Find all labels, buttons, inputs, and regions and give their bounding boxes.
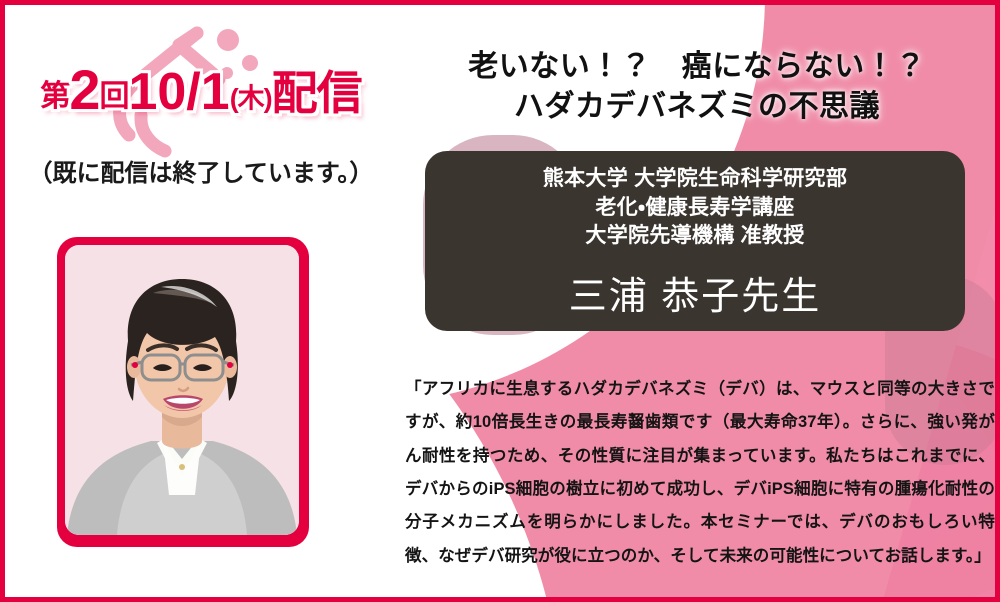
speaker-affiliation: 熊本大学 大学院生命科学研究部 老化・健康長寿学講座 大学院先導機構 准教授: [425, 165, 965, 251]
lecture-title-line-2: ハダカデバネズミの不思議: [397, 87, 997, 127]
episode-counter: 回: [99, 80, 128, 113]
speaker-portrait-illustration: [65, 245, 299, 535]
episode-headline: 第2回10/1(木)配信: [5, 57, 397, 123]
lecture-title-line-1: 老いない！？ 癌にならない！？: [397, 47, 997, 87]
day-of-week: (木): [230, 84, 272, 114]
right-column: 老いない！？ 癌にならない！？ ハダカデバネズミの不思議 熊本大学 大学院生命科…: [397, 5, 1000, 602]
speaker-name: 三浦 恭子先生: [425, 265, 965, 320]
broadcast-ended-note: （既に配信は終了しています。）: [5, 153, 397, 188]
seminar-banner: 第2回10/1(木)配信 （既に配信は終了しています。）: [0, 0, 1000, 602]
affiliation-line-2: 老化・健康長寿学講座: [425, 194, 965, 223]
episode-number: 2: [69, 58, 99, 121]
episode-prefix: 第: [40, 80, 69, 113]
affiliation-line-1: 熊本大学 大学院生命科学研究部: [425, 165, 965, 194]
speaker-info-card: 熊本大学 大学院生命科学研究部 老化・健康長寿学講座 大学院先導機構 准教授 三…: [425, 151, 965, 331]
affiliation-line-3: 大学院先導機構 准教授: [425, 222, 965, 251]
broadcast-date: 10/1: [128, 63, 229, 121]
lecture-abstract: 「アフリカに生息するハダカデバネズミ（デバ）は、マウスと同等の大きさですが、約1…: [405, 373, 995, 573]
speaker-photo-frame: [57, 237, 309, 547]
speaker-photo: [65, 245, 299, 535]
lecture-title: 老いない！？ 癌にならない！？ ハダカデバネズミの不思議: [397, 47, 997, 126]
delivery-label: 配信: [272, 67, 362, 119]
left-column: 第2回10/1(木)配信 （既に配信は終了しています。）: [5, 5, 397, 602]
